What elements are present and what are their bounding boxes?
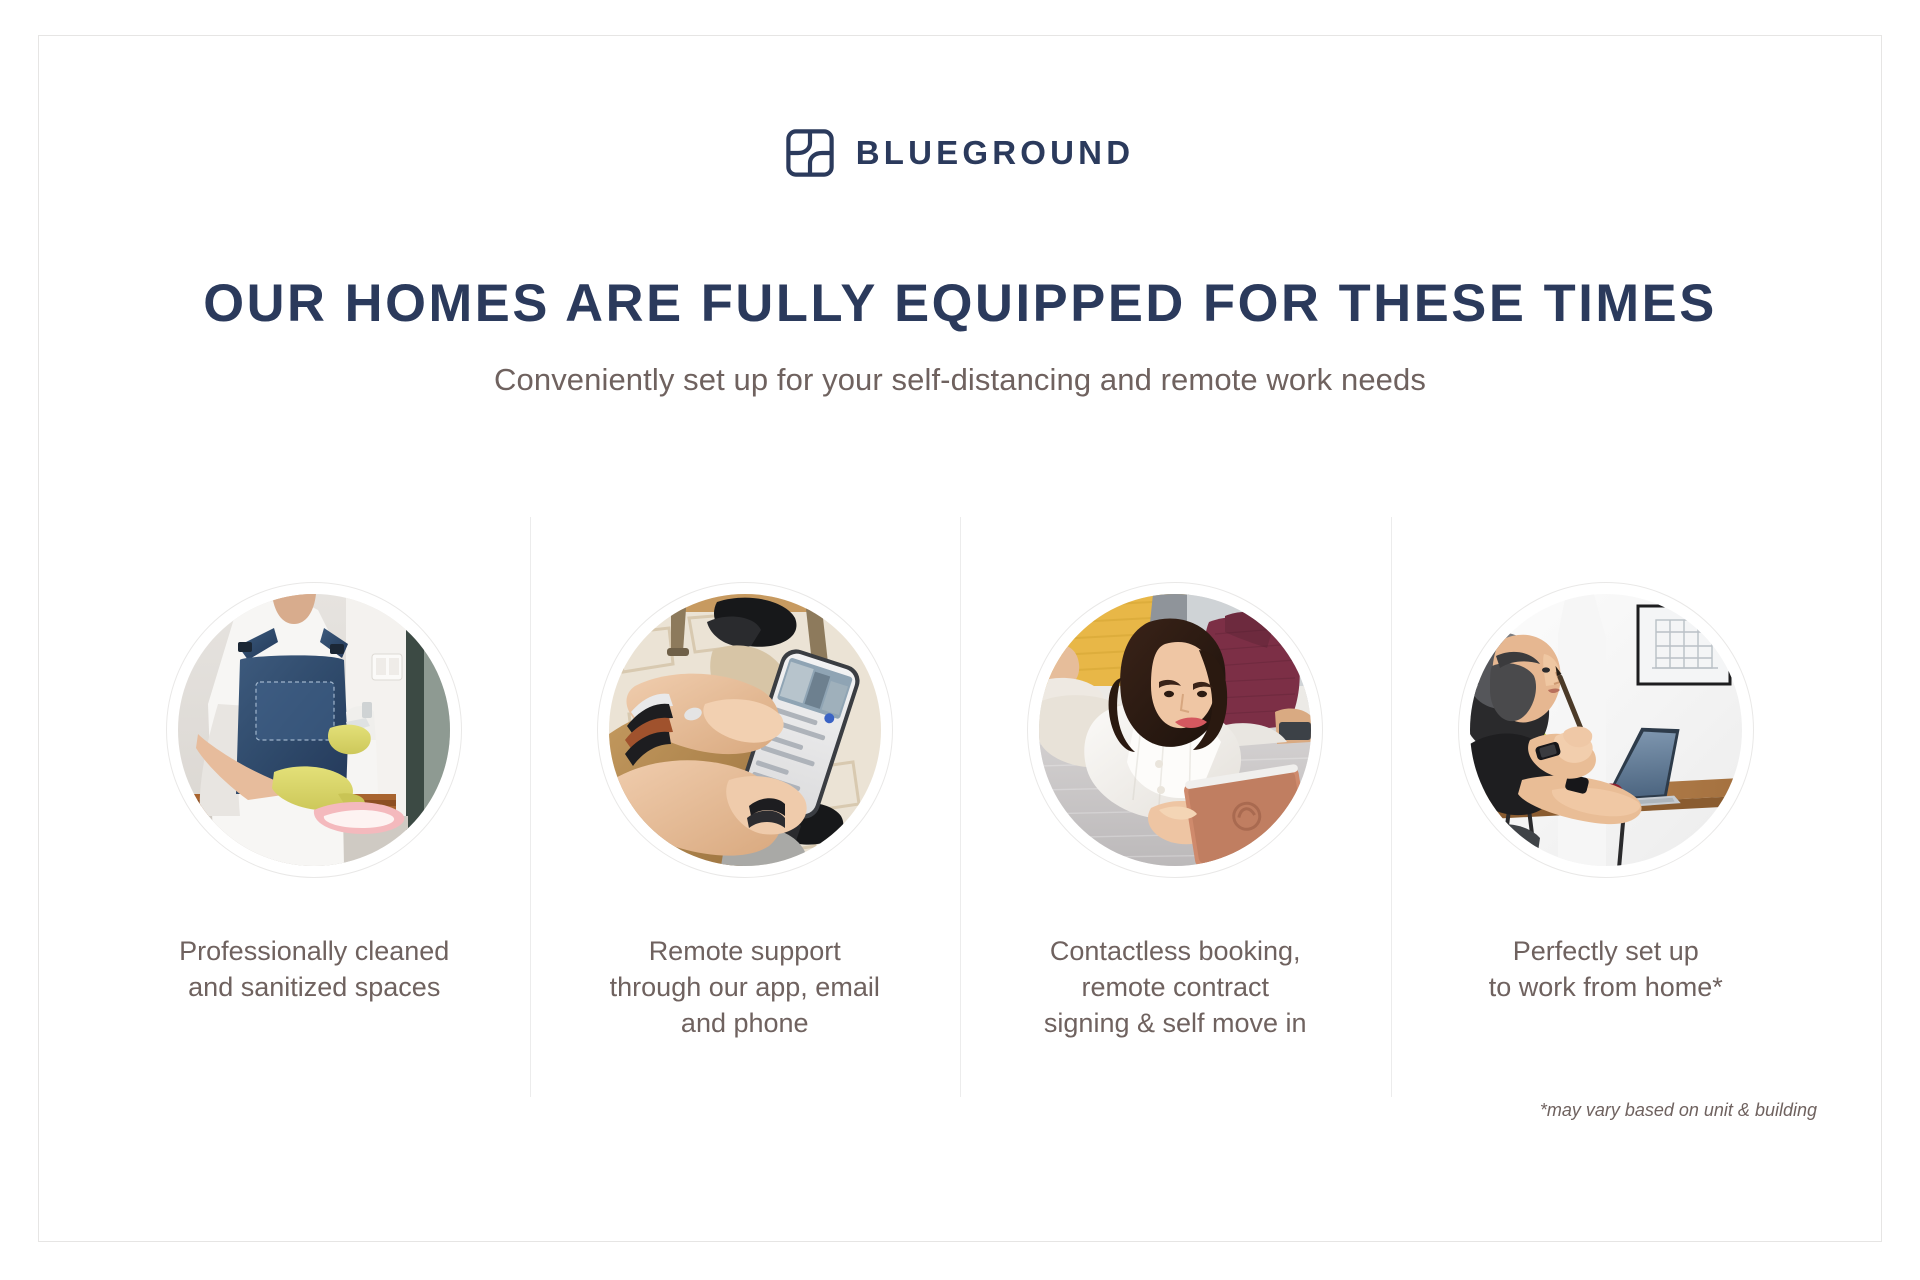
feature-caption-3: Contactless booking, remote contract sig… (1044, 934, 1307, 1042)
footnote: *may vary based on unit & building (1540, 1100, 1817, 1121)
feature-image-3 (1027, 582, 1323, 878)
feature-caption-2: Remote support through our app, email an… (610, 934, 880, 1042)
poster-card: BLUEGROUND OUR HOMES ARE FULLY EQUIPPED … (38, 35, 1882, 1242)
feature-image-1 (166, 582, 462, 878)
page-title: OUR HOMES ARE FULLY EQUIPPED FOR THESE T… (48, 277, 1872, 330)
blueground-logo-icon (786, 129, 834, 177)
feature-image-ring-3 (1027, 582, 1323, 878)
feature-column-2: Remote support through our app, email an… (530, 517, 961, 1097)
brand-name: BLUEGROUND (856, 134, 1135, 172)
feature-column-1: Professionally cleaned and sanitized spa… (99, 517, 530, 1097)
page-subtitle: Conveniently set up for your self-distan… (39, 362, 1881, 398)
feature-column-4: Perfectly set up to work from home* (1391, 517, 1822, 1097)
feature-image-ring-2 (597, 582, 893, 878)
feature-image-4 (1458, 582, 1754, 878)
feature-image-2 (597, 582, 893, 878)
feature-caption-1: Professionally cleaned and sanitized spa… (179, 934, 449, 1006)
feature-image-ring-1 (166, 582, 462, 878)
feature-column-3: Contactless booking, remote contract sig… (960, 517, 1391, 1097)
feature-caption-4: Perfectly set up to work from home* (1489, 934, 1723, 1006)
feature-columns: Professionally cleaned and sanitized spa… (99, 517, 1821, 1097)
brand-lockup: BLUEGROUND (39, 129, 1881, 177)
feature-image-ring-4 (1458, 582, 1754, 878)
